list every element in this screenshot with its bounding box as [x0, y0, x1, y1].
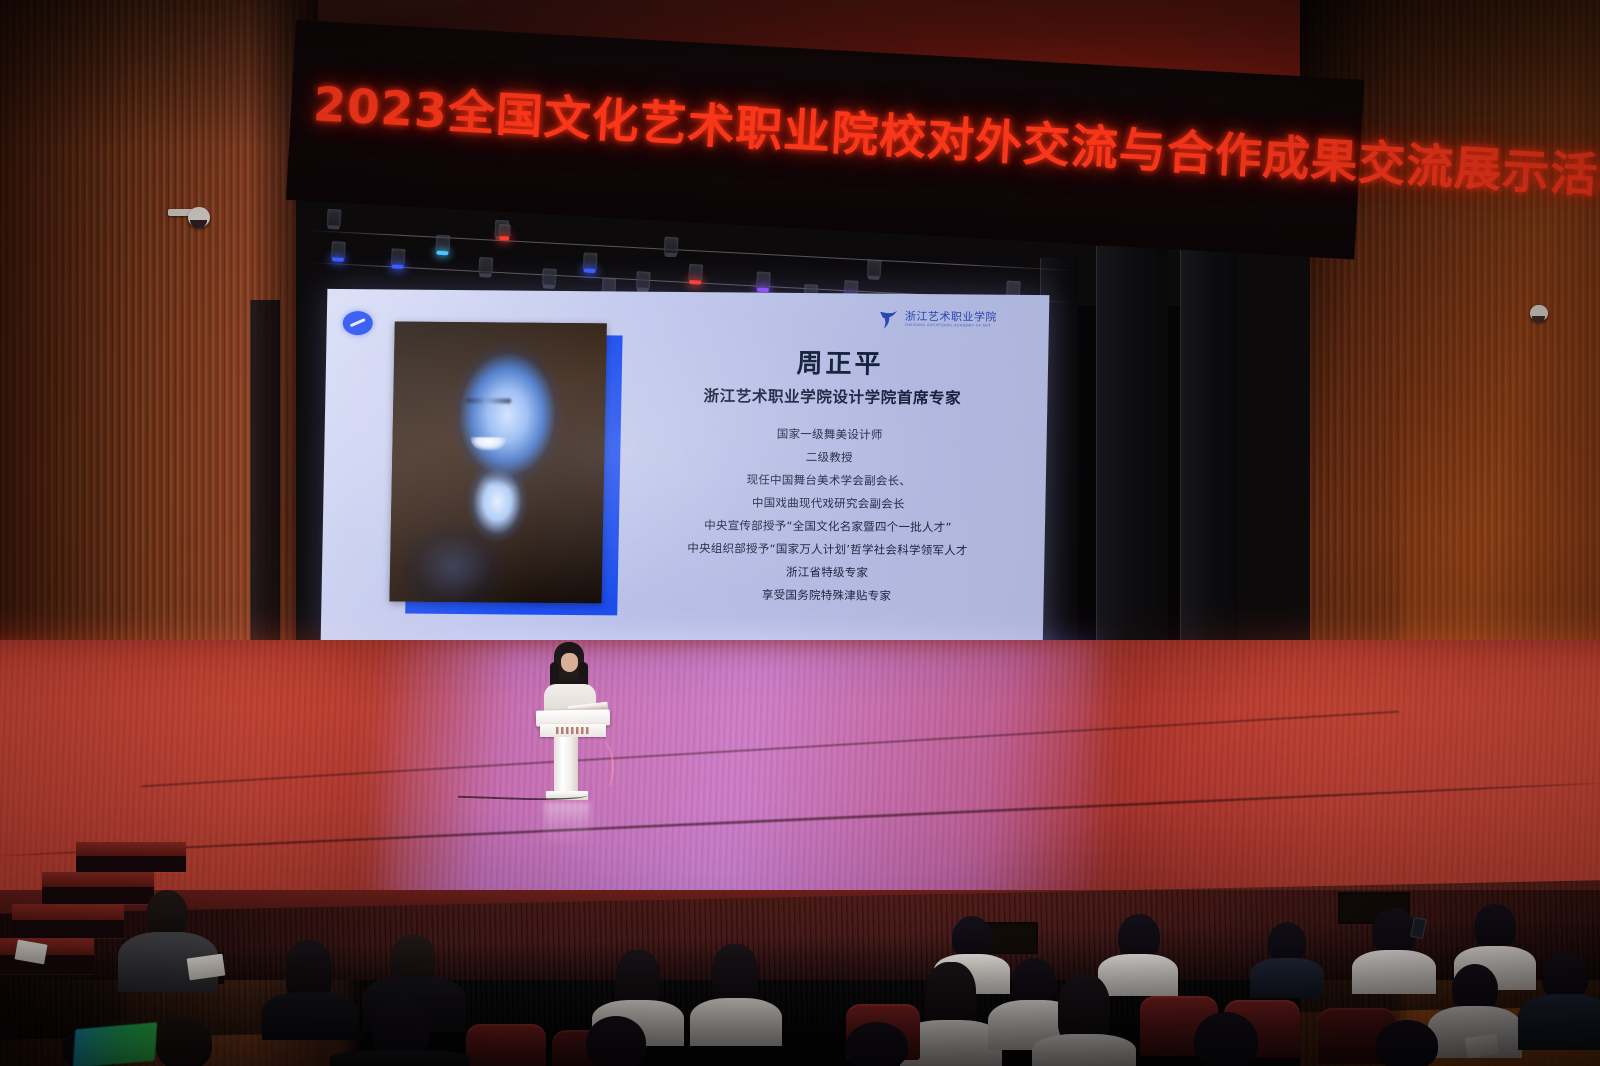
handout-paper: [187, 954, 226, 981]
audience-head-front: [846, 1022, 908, 1066]
podium-label: [556, 727, 590, 734]
audience-shoulders: [1352, 950, 1436, 994]
raised-phone: [1410, 917, 1427, 939]
projection-screen: 浙江艺术职业学院 ZHEJIANG VOCATIONAL ACADEMY OF …: [321, 289, 1050, 651]
audience-head: [1012, 958, 1056, 1006]
stage-leg-3: [1180, 238, 1238, 688]
audience-shoulders-front: [330, 1050, 470, 1066]
audience-area: [0, 900, 1600, 1066]
audience-shoulders: [1098, 954, 1178, 996]
podium-column: [554, 737, 578, 795]
audience-shoulders: [690, 998, 782, 1046]
podium-cord: [592, 740, 614, 788]
audience-head: [286, 940, 332, 1000]
podium-front-panel: [540, 724, 606, 737]
audience-shoulders: [262, 992, 358, 1040]
audience-shoulders: [1032, 1034, 1136, 1066]
audience-head-front: [586, 1016, 646, 1066]
theater-seat: [466, 1024, 546, 1066]
audience-head-front: [1376, 1020, 1438, 1066]
podium-with-speaker: [518, 636, 628, 796]
audience-head: [1474, 904, 1516, 950]
audience-head: [1372, 908, 1416, 956]
audience-head: [712, 944, 758, 1006]
audience-head-front: [1194, 1012, 1258, 1066]
auditorium-scene: 2023全国文化艺术职业院校对外交流与合作成果交流展示活动: [0, 0, 1600, 1066]
handout-paper: [14, 940, 47, 965]
stage-leg-2: [1096, 246, 1168, 686]
audience-head-reader: [146, 890, 188, 938]
audience-shoulders: [1250, 958, 1324, 998]
audience-shoulders: [1518, 994, 1600, 1050]
laptop-screen-glow: [73, 1022, 157, 1066]
speaker-face: [561, 653, 578, 672]
audience-head: [926, 962, 976, 1028]
